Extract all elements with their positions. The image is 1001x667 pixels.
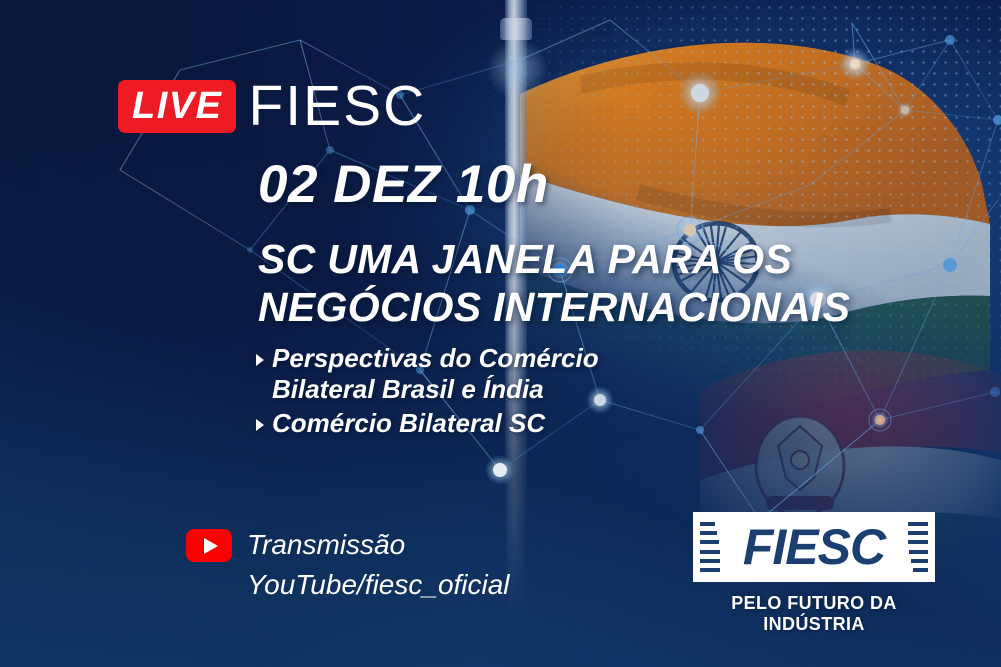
- live-fiesc-lockup: LIVE FIESC: [118, 78, 426, 135]
- broadcast-channel: YouTube/fiesc_oficial: [247, 565, 510, 605]
- event-date: 02 DEZ 10h: [258, 158, 549, 211]
- fiesc-logo-tagline: PELO FUTURO DA INDÚSTRIA: [693, 593, 935, 635]
- topic-text: Comércio Bilateral SC: [272, 408, 545, 439]
- youtube-play-icon[interactable]: [186, 529, 232, 562]
- broadcast-info: Transmissão YouTube/fiesc_oficial: [186, 525, 510, 605]
- event-headline: SC UMA JANELA PARA OS NEGÓCIOS INTERNACI…: [258, 236, 850, 332]
- fiesc-logo-box: FIESC: [693, 512, 935, 582]
- topic-2-line-1: Comércio Bilateral SC: [272, 408, 545, 439]
- triangle-bullet-icon: [256, 419, 264, 431]
- headline-line-2: NEGÓCIOS INTERNACIONAIS: [258, 284, 850, 332]
- list-item: Comércio Bilateral SC: [256, 408, 599, 439]
- topic-list: Perspectivas do Comércio Bilateral Brasi…: [256, 343, 599, 441]
- triangle-bullet-icon: [256, 354, 264, 366]
- broadcast-line-1: Transmissão: [247, 525, 510, 565]
- list-item: Perspectivas do Comércio Bilateral Brasi…: [256, 343, 599, 406]
- topic-text: Perspectivas do Comércio Bilateral Brasi…: [272, 343, 599, 406]
- topic-1-line-2: Bilateral Brasil e Índia: [272, 374, 599, 405]
- logo-stripes-left-icon: [700, 522, 720, 572]
- headline-line-1: SC UMA JANELA PARA OS: [258, 236, 850, 284]
- live-fiesc-banner: LIVE FIESC 02 DEZ 10h SC UMA JANELA PARA…: [0, 0, 1001, 667]
- banner-content: LIVE FIESC 02 DEZ 10h SC UMA JANELA PARA…: [0, 0, 1001, 667]
- fiesc-wordmark: FIESC: [248, 78, 426, 135]
- fiesc-logo-word: FIESC: [743, 522, 885, 572]
- topic-1-line-1: Perspectivas do Comércio: [272, 343, 599, 374]
- logo-stripes-right-icon: [908, 522, 928, 572]
- live-badge: LIVE: [118, 80, 236, 133]
- fiesc-logo: FIESC PELO FUTURO DA INDÚSTRIA: [693, 512, 935, 635]
- broadcast-text: Transmissão YouTube/fiesc_oficial: [247, 525, 510, 605]
